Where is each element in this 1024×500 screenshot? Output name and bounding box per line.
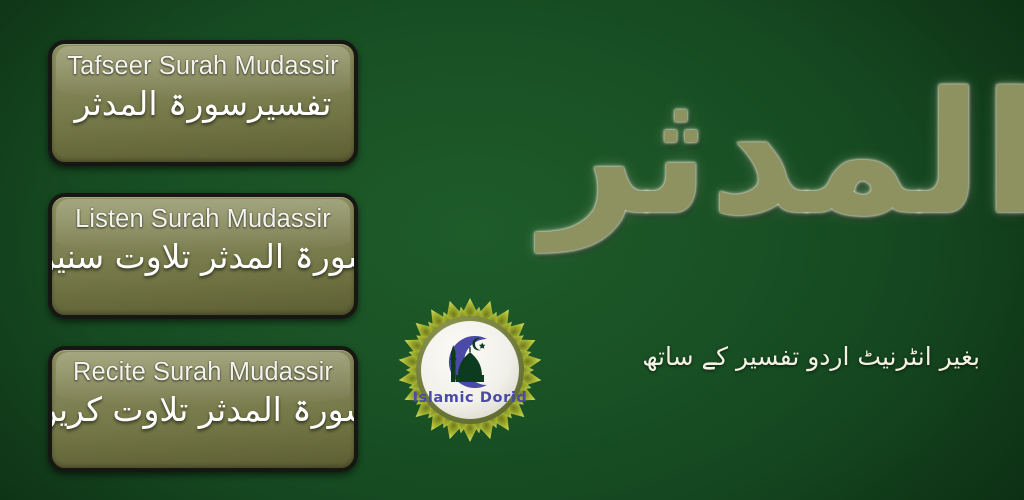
subtitle-urdu: بغیر انٹرنیٹ اردو تفسیر کے ساتھ xyxy=(690,338,980,376)
listen-surah-mudassir-button[interactable]: Listen Surah Mudassir سورۃ المدثر تلاوت … xyxy=(48,193,358,319)
surah-title-calligraphy: المدثر xyxy=(576,8,1006,308)
islamic-dorid-logo[interactable]: Islamic Dorid xyxy=(396,296,544,444)
recite-surah-mudassir-button[interactable]: Recite Surah Mudassir سورۃ المدثر تلاوت … xyxy=(48,346,358,472)
app-splash-screen: Tafseer Surah Mudassir تفسیرسورۃ المدثر … xyxy=(0,0,1024,500)
button-urdu-label: تفسیرسورۃ المدثر xyxy=(75,80,332,128)
tafseer-surah-mudassir-button[interactable]: Tafseer Surah Mudassir تفسیرسورۃ المدثر xyxy=(48,40,358,166)
button-english-label: Listen Surah Mudassir xyxy=(75,205,331,234)
button-english-label: Recite Surah Mudassir xyxy=(73,358,333,387)
button-urdu-label: سورۃ المدثر تلاوت کریں xyxy=(48,386,358,434)
main-menu: Tafseer Surah Mudassir تفسیرسورۃ المدثر … xyxy=(48,40,358,472)
surah-title-arabic: المدثر xyxy=(542,70,1024,238)
button-english-label: Tafseer Surah Mudassir xyxy=(67,52,338,81)
logo-graphic xyxy=(396,296,544,444)
button-urdu-label: سورۃ المدثر تلاوت سنیں xyxy=(48,233,358,281)
